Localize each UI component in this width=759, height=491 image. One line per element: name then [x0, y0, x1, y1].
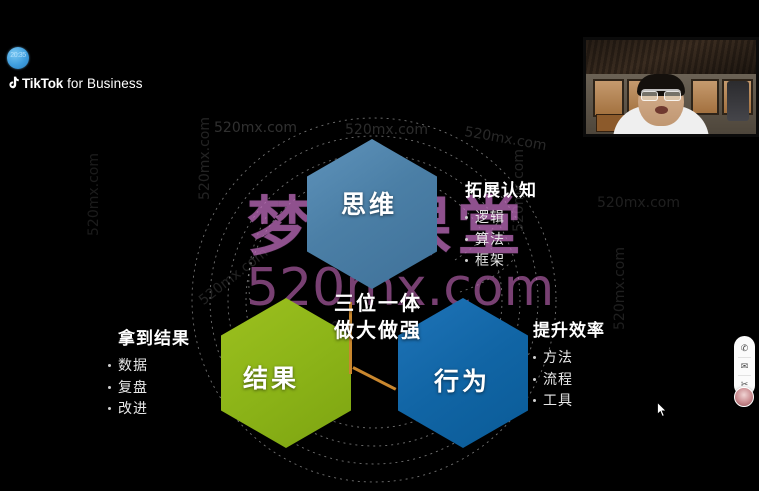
list-item: 改进: [108, 398, 190, 420]
list-item: 复盘: [108, 377, 190, 399]
support-avatar[interactable]: [734, 387, 754, 407]
list-item: 流程: [533, 369, 605, 391]
watermark-text: 520mx.com: [197, 117, 213, 200]
watermark-text: 520mx.com: [612, 247, 628, 330]
presentation-screen: 520mx.com520mx.com520mx.com520mx.com520m…: [0, 0, 759, 491]
window: [691, 79, 719, 115]
watermark-text: 520mx.com: [214, 120, 297, 136]
watermark-text: 520mx.com: [196, 245, 271, 309]
glasses-icon: [641, 89, 681, 100]
callout-items: 逻辑 算法 框架: [465, 207, 537, 272]
avatar: 20:35: [7, 47, 29, 69]
webcam-video-frame: [586, 40, 756, 134]
list-item: 算法: [465, 229, 537, 251]
callout-title: 提升效率: [533, 316, 605, 341]
window: [593, 79, 624, 117]
list-item: 数据: [108, 355, 190, 377]
callout-results: 拿到结果 数据 复盘 改进: [108, 324, 190, 420]
message-icon[interactable]: ✉: [734, 358, 755, 375]
hex-label-thinking: 思维: [341, 185, 397, 221]
slogan-line-1: 三位一体: [303, 291, 453, 318]
watermark-text: 520mx.com: [345, 122, 428, 138]
equipment-rack: [727, 81, 749, 121]
list-item: 框架: [465, 250, 537, 272]
callout-items: 方法 流程 工具: [533, 347, 605, 412]
hex-label-behavior: 行为: [434, 362, 490, 398]
watermark-text: 520mx.com: [86, 153, 102, 236]
presenter-mouth: [655, 106, 668, 114]
brand-name: TikTok: [22, 76, 63, 91]
callout-title: 拿到结果: [108, 324, 190, 349]
watermark-text: 520mx.com: [597, 195, 680, 211]
brand-tagline: for Business: [67, 76, 142, 91]
callout-items: 数据 复盘 改进: [108, 355, 190, 420]
avatar-label: 20:35: [7, 52, 29, 59]
list-item: 逻辑: [465, 207, 537, 229]
tiktok-note-icon: [6, 76, 19, 91]
tiktok-for-business-logo: TikTok for Business: [6, 74, 143, 92]
list-item: 工具: [533, 390, 605, 412]
callout-efficiency: 提升效率 方法 流程 工具: [533, 316, 605, 412]
hex-edge-highlight: [352, 366, 396, 390]
watermark-text: 520mx.com: [463, 124, 548, 154]
list-item: 方法: [533, 347, 605, 369]
room-ceiling: [586, 40, 756, 76]
callout-title: 拓展认知: [465, 176, 537, 201]
callout-cognition: 拓展认知 逻辑 算法 框架: [465, 176, 537, 272]
webcam-video-feed[interactable]: [583, 37, 759, 137]
diagram-center-slogan: 三位一体 做大做强: [303, 291, 453, 345]
phone-icon[interactable]: ✆: [734, 340, 755, 357]
hex-label-results: 结果: [243, 359, 299, 395]
slogan-line-2: 做大做强: [303, 318, 453, 345]
